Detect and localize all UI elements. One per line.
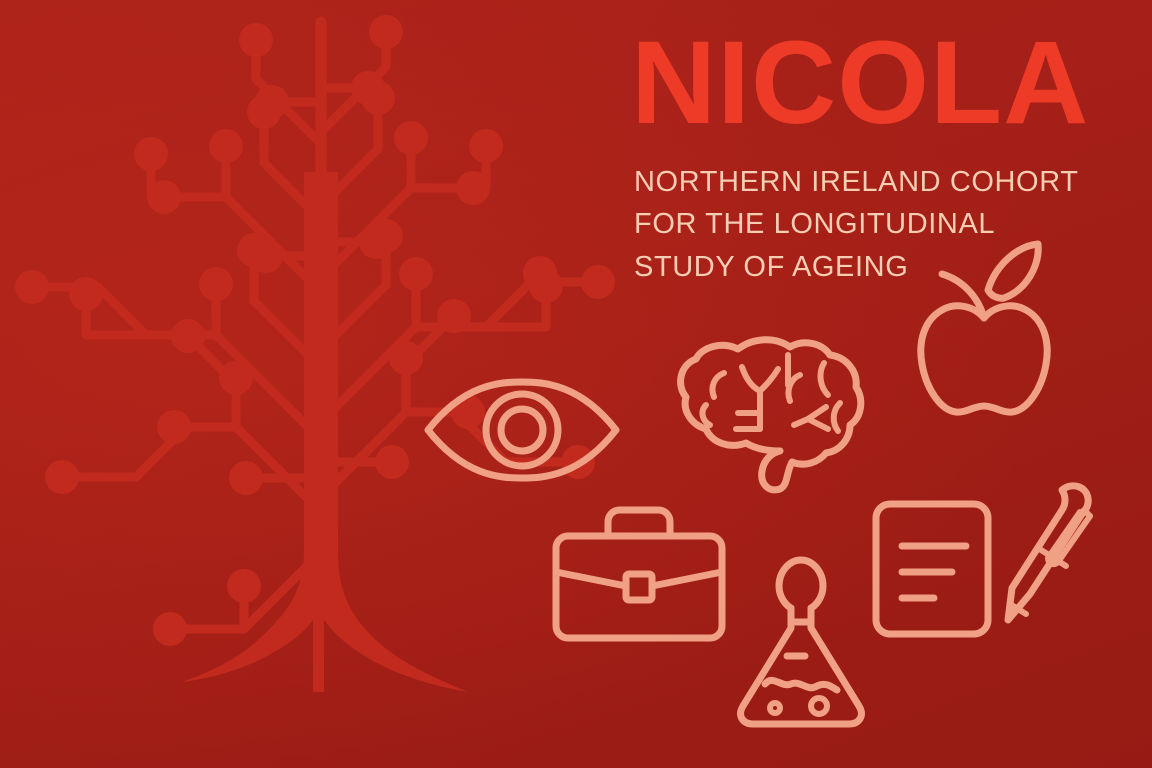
subtitle-line-1: NORTHERN IRELAND COHORT <box>634 161 1101 203</box>
briefcase-icon <box>552 506 726 642</box>
apple-icon <box>912 238 1058 418</box>
eye-icon <box>424 378 620 482</box>
nicola-banner: NICOLA NORTHERN IRELAND COHORT FOR THE L… <box>0 0 1152 768</box>
pen-icon <box>1000 484 1092 626</box>
flask-icon <box>735 556 867 728</box>
document-icon <box>872 500 992 638</box>
brain-icon <box>668 333 868 493</box>
page-title: NICOLA <box>631 28 1101 139</box>
